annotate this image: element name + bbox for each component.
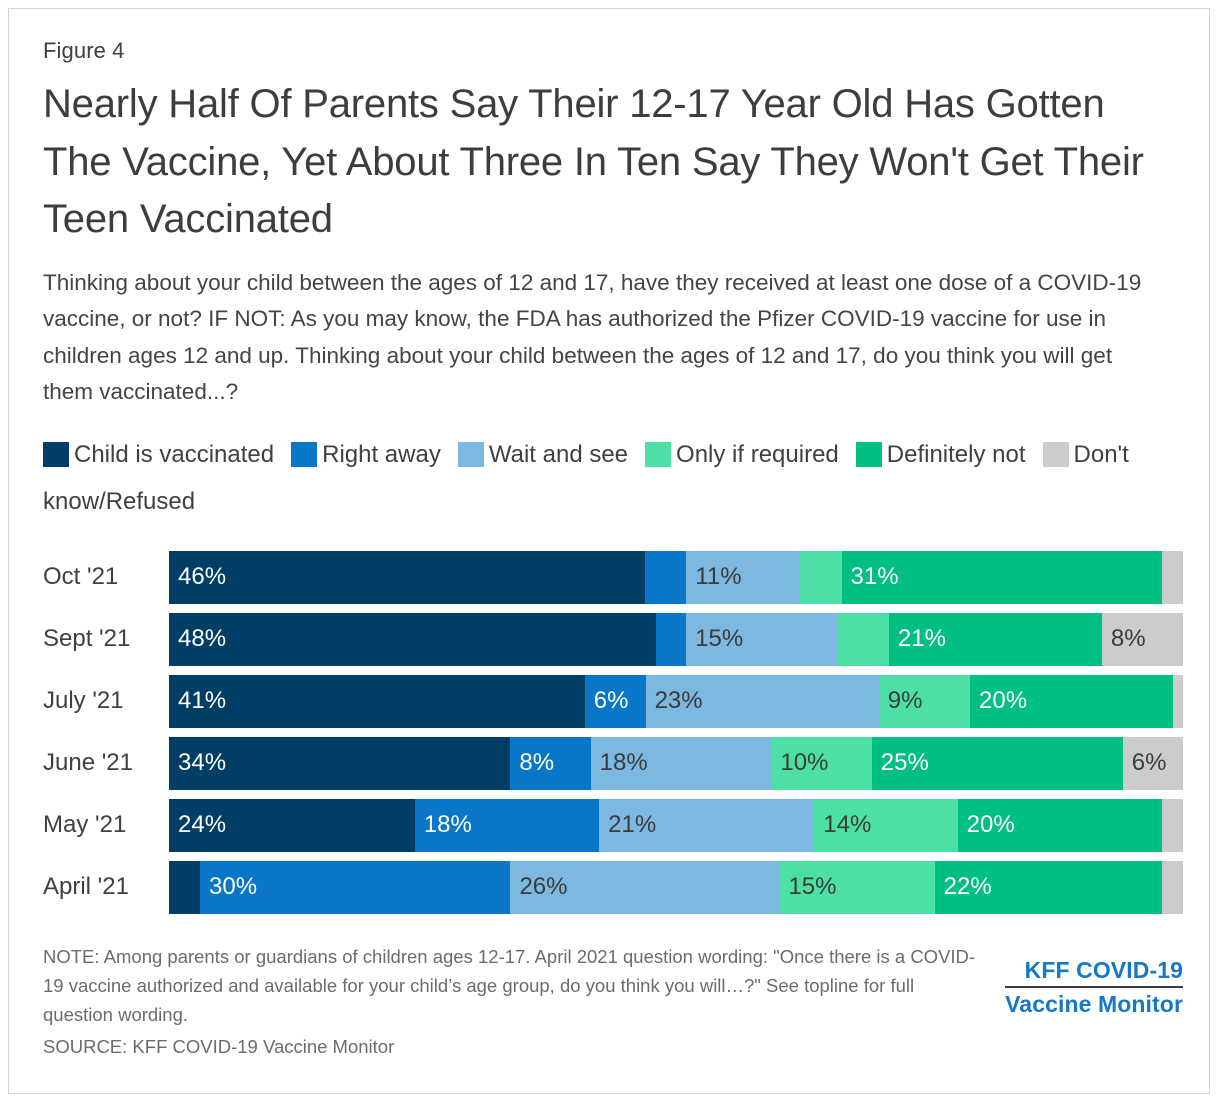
bar-segment[interactable]: 23% xyxy=(646,675,879,728)
bar-segment[interactable]: 20% xyxy=(958,799,1163,852)
bar-segment-value-label: 21% xyxy=(889,627,946,651)
bar-segment-value-label: 15% xyxy=(686,627,743,651)
row-category-label: June '21 xyxy=(43,749,169,777)
row-bar-track: 24%18%21%14%20% xyxy=(169,799,1183,852)
bar-segment-value-label: 10% xyxy=(771,751,828,775)
bar-segment[interactable]: 8% xyxy=(1102,613,1183,666)
bar-segment[interactable]: 14% xyxy=(814,799,957,852)
legend-swatch-icon xyxy=(458,442,484,467)
bar-segment[interactable]: 24% xyxy=(169,799,415,852)
figure-frame: Figure 4 Nearly Half Of Parents Say Thei… xyxy=(8,8,1210,1094)
legend-gap xyxy=(628,442,645,482)
legend-label: Child is vaccinated xyxy=(74,441,274,468)
chart-row: May '2124%18%21%14%20% xyxy=(43,799,1183,852)
bar-segment[interactable] xyxy=(645,551,686,604)
bar-segment[interactable] xyxy=(1162,861,1183,914)
legend-label: Only if required xyxy=(676,441,839,468)
bar-segment-value-label: 20% xyxy=(970,689,1027,713)
bar-segment[interactable]: 21% xyxy=(599,799,814,852)
bar-segment-value-label: 24% xyxy=(169,813,226,837)
footnote-source: SOURCE: KFF COVID-19 Vaccine Monitor xyxy=(43,1032,983,1061)
bar-segment[interactable] xyxy=(1162,551,1183,604)
bar-segment[interactable]: 15% xyxy=(779,861,934,914)
figure-subtitle: Thinking about your child between the ag… xyxy=(43,265,1168,411)
legend-gap xyxy=(274,442,291,482)
bar-segment[interactable]: 15% xyxy=(686,613,838,666)
row-bar-track: 30%26%15%22% xyxy=(169,861,1183,914)
bar-segment[interactable]: 34% xyxy=(169,737,510,790)
legend-label: Wait and see xyxy=(489,441,628,468)
row-bar-track: 46%11%31% xyxy=(169,551,1183,604)
bar-segment[interactable]: 18% xyxy=(415,799,599,852)
bar-segment-value-label: 22% xyxy=(935,875,992,899)
figure-title: Nearly Half Of Parents Say Their 12-17 Y… xyxy=(43,76,1183,249)
bar-segment[interactable]: 6% xyxy=(585,675,646,728)
figure-footer: NOTE: Among parents or guardians of chil… xyxy=(43,942,1183,1062)
legend-swatch-icon xyxy=(291,442,317,467)
bar-segment[interactable]: 25% xyxy=(872,737,1123,790)
bar-segment[interactable]: 6% xyxy=(1123,737,1183,790)
legend-swatch-icon xyxy=(43,442,69,467)
bar-segment[interactable]: 20% xyxy=(970,675,1173,728)
legend-swatch-icon xyxy=(1043,442,1069,467)
bar-segment-value-label: 8% xyxy=(1102,627,1146,651)
chart-row: June '2134%8%18%10%25%6% xyxy=(43,737,1183,790)
kff-vaccine-monitor-logo: KFF COVID-19 Vaccine Monitor xyxy=(1005,956,1183,1019)
bar-segment-value-label: 20% xyxy=(958,813,1015,837)
bar-segment[interactable]: 48% xyxy=(169,613,656,666)
figure-content: Figure 4 Nearly Half Of Parents Say Thei… xyxy=(43,39,1183,1069)
chart-row: Sept '2148%15%21%8% xyxy=(43,613,1183,666)
bar-segment[interactable]: 30% xyxy=(200,861,510,914)
bar-segment[interactable]: 8% xyxy=(510,737,590,790)
brand-line-vaccine-monitor: Vaccine Monitor xyxy=(1005,988,1183,1019)
bar-segment[interactable]: 41% xyxy=(169,675,585,728)
stacked-bar-chart: Oct '2146%11%31%Sept '2148%15%21%8%July … xyxy=(43,551,1183,914)
bar-segment-value-label: 18% xyxy=(591,751,648,775)
footnote-note: NOTE: Among parents or guardians of chil… xyxy=(43,942,983,1030)
legend-swatch-icon xyxy=(856,442,882,467)
chart-row: Oct '2146%11%31% xyxy=(43,551,1183,604)
bar-segment[interactable]: 22% xyxy=(935,861,1163,914)
row-bar-track: 48%15%21%8% xyxy=(169,613,1183,666)
bar-segment-value-label: 23% xyxy=(646,689,703,713)
brand-line-kff-covid: KFF COVID-19 xyxy=(1005,956,1183,989)
bar-segment-value-label: 41% xyxy=(169,689,226,713)
bar-segment[interactable]: 9% xyxy=(879,675,970,728)
bar-segment-value-label: 31% xyxy=(842,565,899,589)
bar-segment[interactable]: 18% xyxy=(591,737,772,790)
bar-segment-value-label: 14% xyxy=(814,813,871,837)
chart-row: July '2141%6%23%9%20% xyxy=(43,675,1183,728)
legend-gap xyxy=(839,442,856,482)
bar-segment-value-label: 46% xyxy=(169,565,226,589)
footnotes: NOTE: Among parents or guardians of chil… xyxy=(43,942,983,1062)
bar-segment-value-label: 26% xyxy=(510,875,567,899)
bar-segment-value-label: 11% xyxy=(686,565,741,589)
row-category-label: Oct '21 xyxy=(43,563,169,591)
row-bar-track: 41%6%23%9%20% xyxy=(169,675,1183,728)
row-bar-track: 34%8%18%10%25%6% xyxy=(169,737,1183,790)
bar-segment-value-label: 15% xyxy=(779,875,836,899)
bar-segment[interactable] xyxy=(838,613,889,666)
bar-segment[interactable]: 10% xyxy=(771,737,871,790)
chart-row: April '2130%26%15%22% xyxy=(43,861,1183,914)
row-category-label: April '21 xyxy=(43,873,169,901)
legend-gap xyxy=(441,442,458,482)
chart-legend: Child is vaccinated Right away Wait and … xyxy=(43,435,1153,529)
bar-segment-value-label: 6% xyxy=(1123,751,1167,775)
bar-segment-value-label: 48% xyxy=(169,627,226,651)
row-category-label: July '21 xyxy=(43,687,169,715)
row-category-label: Sept '21 xyxy=(43,625,169,653)
bar-segment-value-label: 18% xyxy=(415,813,472,837)
bar-segment[interactable] xyxy=(656,613,686,666)
bar-segment-value-label: 21% xyxy=(599,813,656,837)
bar-segment[interactable]: 11% xyxy=(686,551,800,604)
bar-segment[interactable]: 26% xyxy=(510,861,779,914)
bar-segment-value-label: 25% xyxy=(872,751,929,775)
legend-swatch-icon xyxy=(645,442,671,467)
bar-segment-value-label: 9% xyxy=(879,689,923,713)
bar-segment-value-label: 34% xyxy=(169,751,226,775)
legend-gap xyxy=(1026,442,1043,482)
row-category-label: May '21 xyxy=(43,811,169,839)
legend-label: Right away xyxy=(322,441,441,468)
bar-segment-value-label: 8% xyxy=(510,751,554,775)
bar-segment[interactable] xyxy=(169,861,200,914)
bar-segment[interactable]: 21% xyxy=(889,613,1102,666)
bar-segment-value-label: 30% xyxy=(200,875,257,899)
figure-number: Figure 4 xyxy=(43,39,1183,63)
bar-segment[interactable]: 46% xyxy=(169,551,645,604)
bar-segment[interactable] xyxy=(1162,799,1182,852)
bar-segment[interactable]: 31% xyxy=(842,551,1163,604)
bar-segment-value-label: 6% xyxy=(585,689,629,713)
bar-segment[interactable] xyxy=(800,551,841,604)
bar-segment[interactable] xyxy=(1173,675,1183,728)
legend-label: Definitely not xyxy=(887,441,1026,468)
